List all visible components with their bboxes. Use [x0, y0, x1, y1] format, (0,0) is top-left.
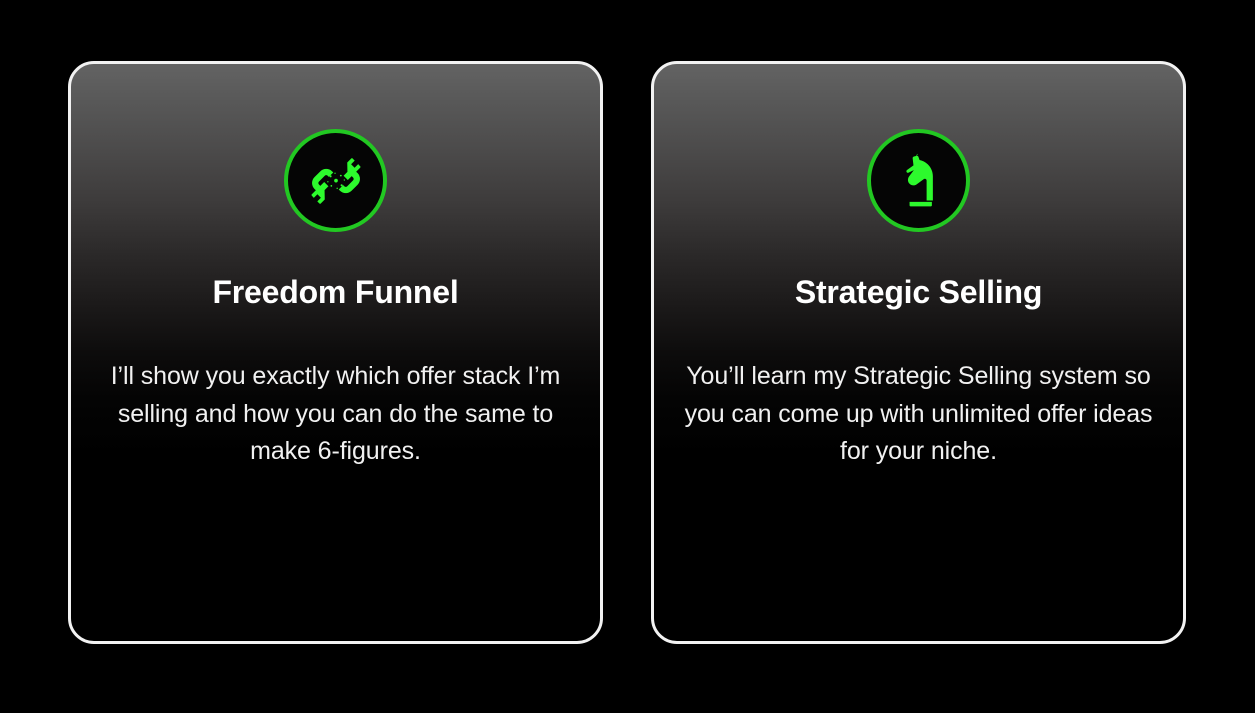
- chess-knight-icon: [890, 152, 948, 210]
- card-inner: Freedom Funnel I’ll show you exactly whi…: [71, 64, 600, 641]
- feature-card-strategic-selling[interactable]: Strategic Selling You’ll learn my Strate…: [651, 61, 1186, 644]
- card-row: Freedom Funnel I’ll show you exactly whi…: [0, 0, 1255, 713]
- card-title: Freedom Funnel: [212, 275, 458, 310]
- icon-badge-chess-knight: [867, 129, 970, 232]
- card-title: Strategic Selling: [795, 275, 1042, 310]
- feature-cards-stage: Freedom Funnel I’ll show you exactly whi…: [0, 0, 1255, 713]
- card-description: You’ll learn my Strategic Selling system…: [684, 358, 1154, 471]
- icon-badge-broken-chain: [284, 129, 387, 232]
- card-inner: Strategic Selling You’ll learn my Strate…: [654, 64, 1183, 641]
- card-description: I’ll show you exactly which offer stack …: [101, 358, 571, 471]
- feature-card-freedom-funnel[interactable]: Freedom Funnel I’ll show you exactly whi…: [68, 61, 603, 644]
- broken-chain-icon: [305, 150, 367, 212]
